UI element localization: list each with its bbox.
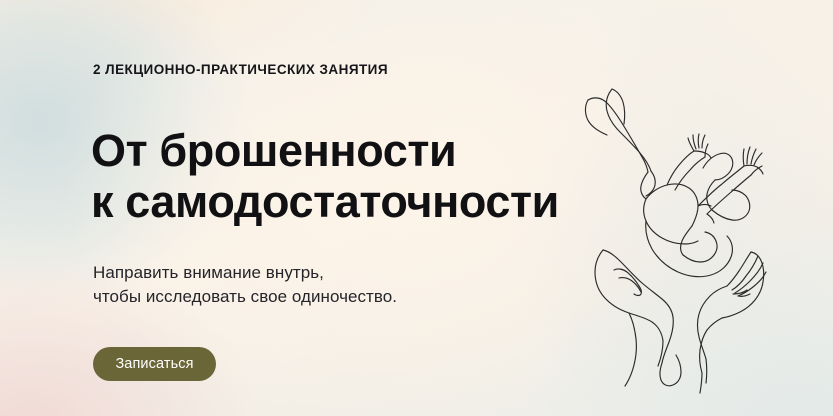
- hero-headline: От брошенности к самодостаточности: [91, 126, 559, 228]
- hero-illustration: [555, 72, 805, 402]
- hero-subtitle: Направить внимание внутрь, чтобы исследо…: [93, 261, 397, 309]
- signup-button[interactable]: Записаться: [93, 347, 216, 381]
- open-hands-icon: [595, 250, 766, 393]
- hero-banner: 2 ЛЕКЦИОННО-ПРАКТИЧЕСКИХ ЗАНЯТИЯ От брош…: [0, 0, 833, 416]
- hero-eyebrow: 2 ЛЕКЦИОННО-ПРАКТИЧЕСКИХ ЗАНЯТИЯ: [93, 62, 388, 77]
- hero-content: 2 ЛЕКЦИОННО-ПРАКТИЧЕСКИХ ЗАНЯТИЯ От брош…: [93, 0, 563, 416]
- falling-figure-icon: [585, 89, 763, 277]
